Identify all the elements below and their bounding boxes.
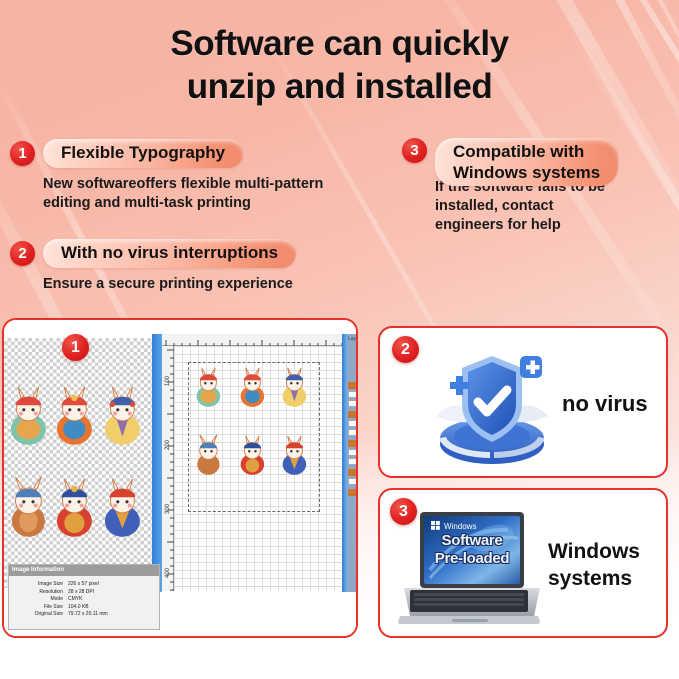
property-group-header-output-size	[348, 440, 358, 447]
feature-block-1: 1 Flexible Typography New softwareoffers…	[10, 138, 385, 213]
property-field-width[interactable]	[348, 391, 358, 398]
svg-text:300: 300	[165, 503, 171, 514]
laptop-screen: Windows Software Pre-loaded	[424, 516, 520, 584]
info-row: Mode CMYK	[12, 596, 156, 604]
shield-check-icon	[422, 338, 562, 470]
property-field-out-width[interactable]	[348, 449, 358, 456]
info-key: Mode	[12, 596, 68, 604]
preload-line2: Pre-loaded	[435, 550, 510, 568]
no-virus-card: 2	[378, 326, 668, 478]
info-value: 79.72 x 20.11 mm	[68, 611, 156, 619]
feature-3-body-line3: engineers for help	[435, 216, 674, 235]
software-window: 100 200 300 400	[4, 320, 356, 636]
property-field-out-height[interactable]	[348, 458, 358, 465]
info-value: 226 x 57 pixel	[68, 581, 156, 589]
main-canvas-grid[interactable]	[174, 346, 342, 591]
page-title-line1: Software can quickly	[170, 24, 508, 63]
svg-text:200: 200	[165, 439, 171, 450]
info-row: Resolution 28 x 28 DPI	[12, 589, 156, 597]
windows-systems-card: 3	[378, 488, 668, 638]
properties-panel-scrollbar[interactable]	[342, 334, 347, 592]
property-group-header-scale	[348, 469, 358, 476]
info-row: Original Size 79.72 x 20.11 mm	[12, 611, 156, 619]
properties-panel-title: Layout	[348, 336, 358, 342]
feature-1-body-line1: New softwareoffers flexible multi-patter…	[43, 175, 385, 194]
svg-text:100: 100	[165, 375, 171, 386]
no-virus-label: no virus	[562, 328, 648, 480]
svg-text:400: 400	[165, 567, 171, 578]
feature-1-body: New softwareoffers flexible multi-patter…	[10, 175, 385, 213]
preload-line1: Software	[442, 532, 503, 550]
canvas-scrollbar-vertical[interactable]	[152, 334, 162, 592]
info-key: Original Size	[12, 611, 68, 619]
feature-1-header: 1 Flexible Typography	[10, 138, 385, 168]
info-key: File Size	[12, 604, 68, 612]
feature-1-badge: 1	[10, 141, 35, 166]
laptop-icon: Windows Software Pre-loaded	[396, 504, 542, 628]
left-canvas-stickers	[4, 338, 162, 588]
feature-3-body-line2: installed, contact	[435, 197, 674, 216]
feature-3-title-line2: Windows systems	[453, 162, 600, 183]
main-canvas-stickers	[174, 346, 342, 591]
page-title-line2: unzip and installed	[0, 65, 679, 108]
feature-3-body: If the software fails to be installed, c…	[402, 178, 674, 235]
property-group-header-paper	[348, 382, 358, 389]
info-key: Resolution	[12, 589, 68, 597]
virus-card-badge: 2	[392, 336, 419, 363]
windows-label-line1: Windows	[548, 538, 640, 565]
feature-block-3: 3 Compatible with Windows systems If the…	[402, 138, 674, 235]
feature-1-title: Flexible Typography	[61, 143, 225, 163]
image-information-title: Image Information	[9, 565, 159, 576]
feature-2-badge: 2	[10, 241, 35, 266]
page-title: Software can quickly unzip and installed	[0, 22, 679, 108]
info-row: Image Size 226 x 57 pixel	[12, 581, 156, 589]
screen-overlay-text: Software Pre-loaded	[424, 516, 520, 584]
feature-2-body: Ensure a secure printing experience	[10, 275, 385, 294]
poster-root: Software can quickly unzip and installed…	[0, 0, 679, 679]
info-key: Image Size	[12, 581, 68, 589]
image-information-rows: Image Size 226 x 57 pixel Resolution 28 …	[9, 576, 159, 619]
feature-3-title-line1: Compatible with	[453, 141, 584, 162]
info-value: CMYK	[68, 596, 156, 604]
software-screenshot-card: 100 200 300 400	[2, 318, 358, 638]
feature-1-pill: Flexible Typography	[43, 139, 243, 168]
property-group-header-output	[348, 411, 358, 418]
ruler-horizontal	[162, 334, 358, 346]
property-field-y[interactable]	[348, 429, 358, 436]
ruler-vertical: 100 200 300 400	[162, 346, 174, 591]
feature-3-badge: 3	[402, 138, 427, 163]
info-row: File Size 104.0 KB	[12, 604, 156, 612]
image-information-panel: Image Information Image Size 226 x 57 pi…	[8, 564, 160, 630]
property-group-header-rotate	[348, 489, 358, 496]
property-field-x[interactable]	[348, 420, 358, 427]
feature-3-pill: Compatible with Windows systems	[435, 138, 618, 186]
info-value: 28 x 28 DPI	[68, 589, 156, 597]
property-field-scale[interactable]	[348, 478, 358, 485]
feature-block-2: 2 With no virus interruptions Ensure a s…	[10, 238, 385, 294]
info-value: 104.0 KB	[68, 604, 156, 612]
windows-label-line2: systems	[548, 565, 640, 592]
feature-2-header: 2 With no virus interruptions	[10, 238, 385, 268]
windows-systems-label: Windows systems	[548, 490, 640, 640]
feature-3-header: 3 Compatible with Windows systems	[402, 138, 674, 168]
software-card-badge: 1	[62, 334, 89, 361]
feature-2-title: With no virus interruptions	[61, 243, 278, 263]
left-canvas-transparent[interactable]	[4, 338, 162, 588]
feature-2-pill: With no virus interruptions	[43, 239, 296, 268]
windows-card-badge: 3	[390, 498, 417, 525]
feature-2-body-line1: Ensure a secure printing experience	[43, 275, 385, 294]
feature-1-body-line2: editing and multi-task printing	[43, 194, 385, 213]
property-field-height[interactable]	[348, 400, 358, 407]
